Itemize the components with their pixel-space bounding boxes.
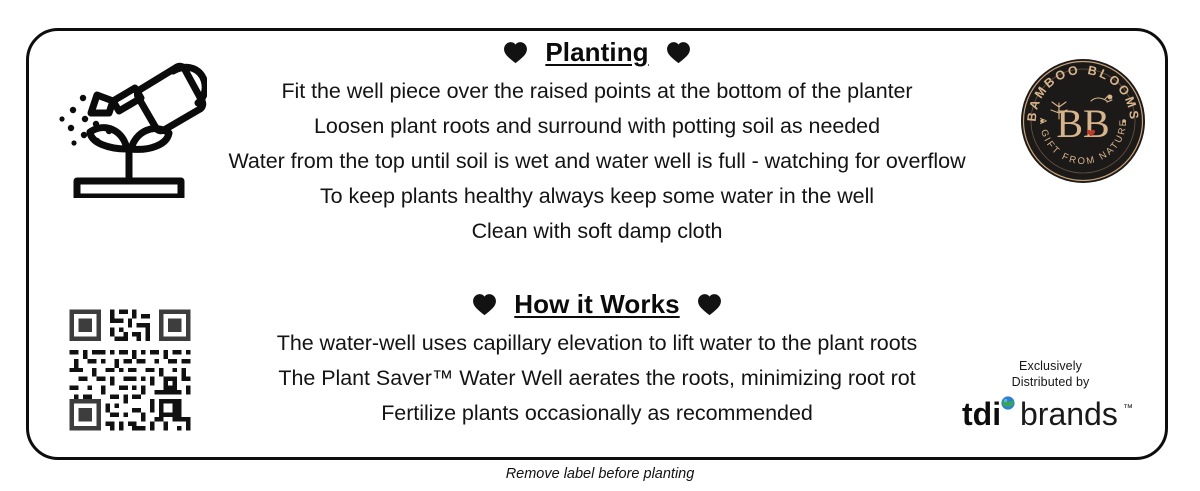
heart-icon — [503, 41, 528, 64]
distributor-line-2: Distributed by — [958, 375, 1143, 391]
how-it-works-heading-text: How it Works — [514, 289, 679, 320]
instruction-line: To keep plants healthy always keep some … — [204, 179, 990, 214]
qr-code[interactable] — [65, 305, 195, 435]
watering-can-plant-icon — [57, 53, 207, 198]
heart-icon — [472, 293, 497, 316]
seal-monogram: BB — [1056, 101, 1109, 146]
tdi-logo-trademark: ™ — [1123, 403, 1133, 414]
globe-icon — [1001, 396, 1014, 409]
section-planting: Planting Fit the well piece over the rai… — [204, 37, 990, 249]
distributor-block: Exclusively Distributed by tdi brands ™ — [958, 359, 1143, 431]
instruction-line: Fit the well piece over the raised point… — [204, 74, 990, 109]
instruction-line: Clean with soft damp cloth — [204, 214, 990, 249]
planting-heading: Planting — [204, 37, 990, 68]
instruction-label-card: BAMBOO BLOOMS A GIFT FROM NATURE BB — [26, 28, 1168, 460]
tdi-logo-light: brands — [1020, 396, 1118, 431]
section-how-it-works: How it Works The water-well uses capilla… — [204, 289, 990, 431]
planting-heading-text: Planting — [545, 37, 648, 68]
instruction-line: Loosen plant roots and surround with pot… — [204, 109, 990, 144]
distributor-line-1: Exclusively — [958, 359, 1143, 375]
bamboo-blooms-logo: BAMBOO BLOOMS A GIFT FROM NATURE BB — [1019, 57, 1147, 185]
tdi-brands-logo: tdi brands ™ — [958, 395, 1143, 431]
how-it-works-heading: How it Works — [204, 289, 990, 320]
instruction-line: Fertilize plants occasionally as recomme… — [204, 396, 990, 431]
instruction-line: The Plant Saver™ Water Well aerates the … — [204, 361, 990, 396]
instructions-column: Planting Fit the well piece over the rai… — [204, 37, 990, 431]
footer-note: Remove label before planting — [0, 466, 1200, 482]
heart-icon — [666, 41, 691, 64]
instruction-line: Water from the top until soil is wet and… — [204, 144, 990, 179]
tdi-logo-bold: tdi — [962, 396, 1001, 431]
heart-icon — [697, 293, 722, 316]
instruction-line: The water-well uses capillary elevation … — [204, 326, 990, 361]
